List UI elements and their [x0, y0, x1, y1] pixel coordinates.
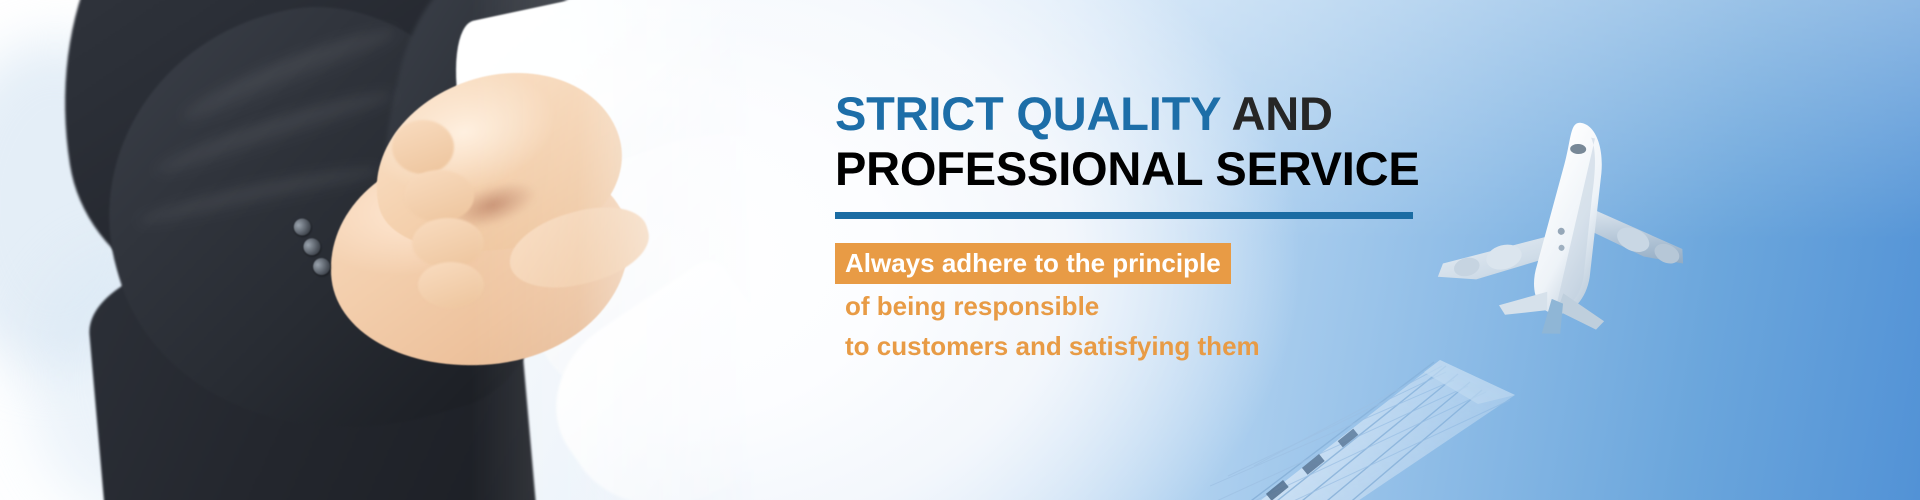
sub-line-2: of being responsible [835, 288, 1475, 324]
banner-copy: STRICT QUALITY AND PROFESSIONAL SERVICE … [835, 86, 1475, 364]
handshake-photo [0, 0, 760, 500]
headline-accent-text: STRICT QUALITY [835, 87, 1220, 140]
knuckle [404, 170, 474, 222]
promo-banner: STRICT QUALITY AND PROFESSIONAL SERVICE … [0, 0, 1920, 500]
headline-line-2: PROFESSIONAL SERVICE [835, 141, 1475, 196]
headline-divider [835, 212, 1413, 219]
airplane-icon [1440, 105, 1700, 335]
sub-copy: Always adhere to the principle of being … [835, 243, 1475, 364]
headline-line-1: STRICT QUALITY AND [835, 86, 1475, 141]
sub-line-3: to customers and satisfying them [835, 328, 1475, 364]
sub-highlight-text: Always adhere to the principle [835, 243, 1231, 284]
sub-highlight-row-wrapper: Always adhere to the principle [835, 243, 1475, 284]
headline-rest-text: AND [1220, 87, 1332, 140]
knuckle [418, 262, 484, 308]
knuckle [392, 120, 454, 174]
knuckle [412, 218, 484, 268]
